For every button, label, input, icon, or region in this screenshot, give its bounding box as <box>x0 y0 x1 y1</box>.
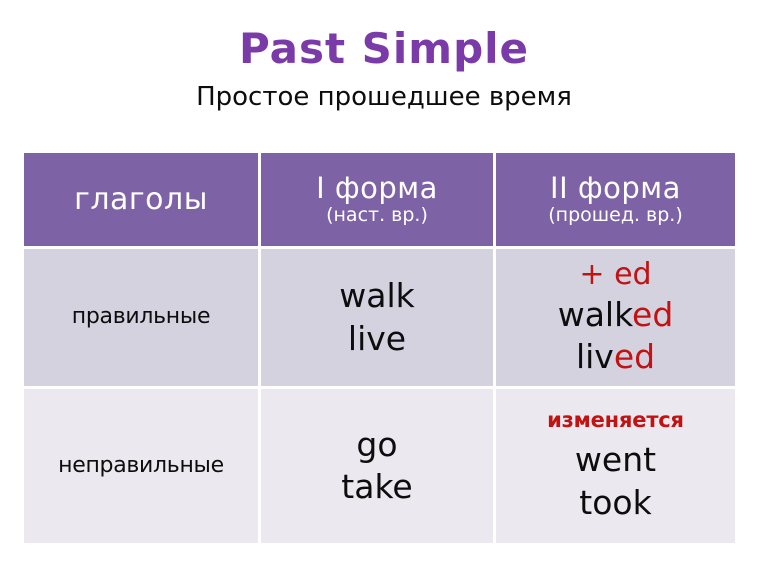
title-block: Past Simple Простое прошедшее время <box>0 28 768 110</box>
verb-suffix: ed <box>614 337 655 376</box>
header-cell-verbs: глаголы <box>24 153 258 246</box>
verb-regular-form2-line1: walked <box>500 294 731 336</box>
cell-form1-irregular: go take <box>261 389 493 543</box>
page-subtitle: Простое прошедшее время <box>0 84 768 110</box>
slide-canvas: Past Simple Простое прошедшее время глаг… <box>0 0 768 576</box>
cell-category-irregular: неправильные <box>24 389 258 543</box>
rule-note-regular: + ed <box>500 257 731 293</box>
verb-stem: took <box>579 483 651 522</box>
header-form2-label: II форма <box>500 173 731 203</box>
page-title: Past Simple <box>0 28 768 70</box>
table-header-row: глаголы I форма (наст. вр.) II форма (пр… <box>24 153 735 246</box>
verb-stem: walk <box>558 295 632 334</box>
verb-irregular-form1-line2: take <box>265 466 489 508</box>
cell-form2-regular: + ed walked lived <box>496 249 735 386</box>
table-row: правильные walk live + ed walked lived <box>24 249 735 386</box>
category-label-regular: правильные <box>72 304 210 329</box>
cell-form1-regular: walk live <box>261 249 493 386</box>
category-label-irregular: неправильные <box>58 453 224 478</box>
verb-regular-form2-line2: lived <box>500 336 731 378</box>
rule-note-irregular: изменяется <box>500 408 731 433</box>
header-cell-form1: I форма (наст. вр.) <box>261 153 493 246</box>
header-cell-form2: II форма (прошед. вр.) <box>496 153 735 246</box>
verb-irregular-form1-line1: go <box>265 424 489 466</box>
cell-category-regular: правильные <box>24 249 258 386</box>
header-form2-sublabel: (прошед. вр.) <box>500 205 731 226</box>
header-form1-label: I форма <box>265 173 489 203</box>
verb-stem: liv <box>576 337 614 376</box>
verb-irregular-form2-line1: went <box>500 439 731 481</box>
verb-suffix: ed <box>632 295 673 334</box>
table-row: неправильные go take изменяется went too… <box>24 389 735 543</box>
verb-irregular-form2-line2: took <box>500 482 731 524</box>
cell-form2-irregular: изменяется went took <box>496 389 735 543</box>
verb-forms-table: глаголы I форма (наст. вр.) II форма (пр… <box>21 150 738 546</box>
header-verbs-label: глаголы <box>28 184 254 216</box>
verb-regular-form1-line1: walk <box>265 275 489 317</box>
verb-stem: went <box>575 440 656 479</box>
verb-regular-form1-line2: live <box>265 318 489 360</box>
header-form1-sublabel: (наст. вр.) <box>265 205 489 226</box>
